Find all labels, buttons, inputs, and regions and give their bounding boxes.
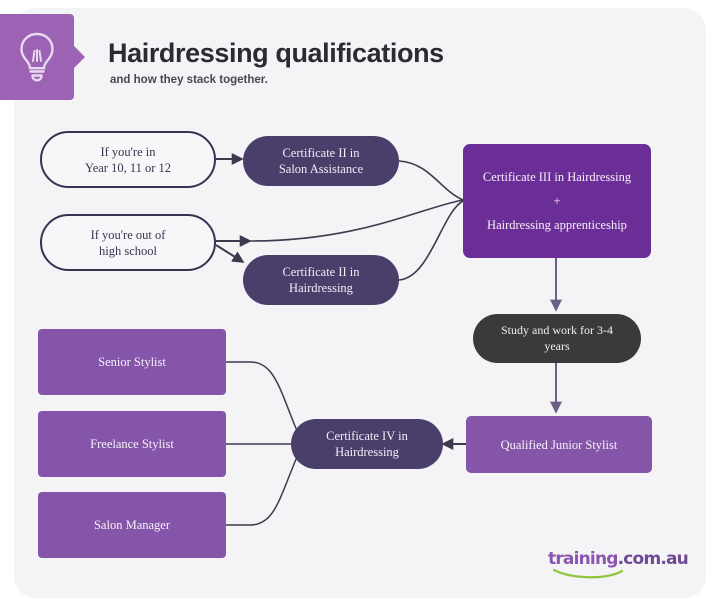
node-cert3-hairdressing[interactable]: Certificate III in Hairdressing + Hairdr…: [463, 144, 651, 258]
node-freelance-stylist-label: Freelance Stylist: [90, 436, 174, 452]
lightbulb-badge: [0, 14, 74, 100]
node-study-line1: Study and work for 3-4: [501, 323, 613, 338]
infographic-canvas: Hairdressing qualifications and how they…: [0, 0, 720, 612]
node-in-school[interactable]: If you're in Year 10, 11 or 12: [40, 131, 216, 188]
node-in-school-line1: If you're in: [85, 144, 171, 160]
node-cert3-line1: Certificate III in Hairdressing: [483, 169, 631, 185]
node-cert2-hairdressing[interactable]: Certificate II in Hairdressing: [243, 255, 399, 305]
node-cert2-hair-line1: Certificate II in: [282, 264, 359, 280]
node-out-of-school[interactable]: If you're out of high school: [40, 214, 216, 271]
node-senior-stylist[interactable]: Senior Stylist: [38, 329, 226, 395]
page-subtitle: and how they stack together.: [110, 74, 268, 86]
node-qualified-junior-stylist[interactable]: Qualified Junior Stylist: [466, 416, 652, 473]
node-cert3-plus: +: [553, 193, 560, 209]
node-cert4-line1: Certificate IV in: [326, 428, 408, 444]
page-title: Hairdressing qualifications: [108, 38, 444, 69]
logo-text: training.com.au: [548, 549, 684, 569]
training-com-au-logo[interactable]: training.com.au: [548, 549, 684, 579]
logo-text-part2: .com.au: [618, 549, 688, 569]
node-junior-label: Qualified Junior Stylist: [501, 437, 618, 453]
node-cert2-salon-assistance[interactable]: Certificate II in Salon Assistance: [243, 136, 399, 186]
node-out-of-school-line1: If you're out of: [91, 227, 166, 243]
node-salon-manager-label: Salon Manager: [94, 517, 170, 533]
node-salon-manager[interactable]: Salon Manager: [38, 492, 226, 558]
node-study-and-work[interactable]: Study and work for 3-4 years: [473, 314, 641, 363]
node-cert4-line2: Hairdressing: [326, 444, 408, 460]
logo-swoosh-icon: [548, 568, 684, 580]
node-senior-stylist-label: Senior Stylist: [98, 354, 166, 370]
node-in-school-line2: Year 10, 11 or 12: [85, 160, 171, 176]
node-cert2-salon-line1: Certificate II in: [279, 145, 363, 161]
node-cert2-salon-line2: Salon Assistance: [279, 161, 363, 177]
lightbulb-icon: [17, 31, 57, 83]
node-study-line2: years: [501, 339, 613, 354]
node-cert4-hairdressing[interactable]: Certificate IV in Hairdressing: [291, 419, 443, 469]
node-cert2-hair-line2: Hairdressing: [282, 280, 359, 296]
logo-text-part1: training: [548, 549, 618, 569]
node-freelance-stylist[interactable]: Freelance Stylist: [38, 411, 226, 477]
node-out-of-school-line2: high school: [91, 243, 166, 259]
node-cert3-line2: Hairdressing apprenticeship: [487, 217, 627, 233]
